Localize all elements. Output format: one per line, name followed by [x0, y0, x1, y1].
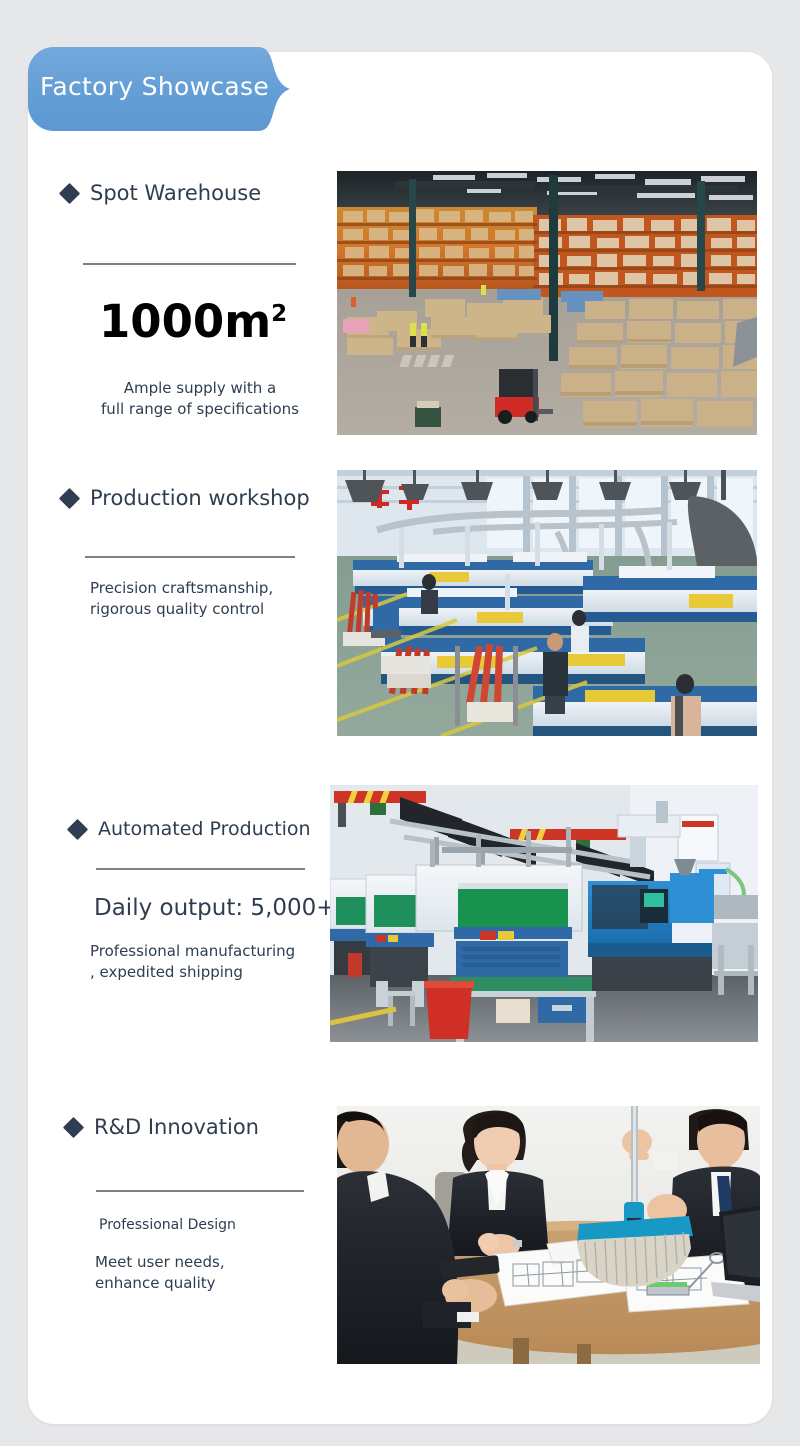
rd-innovation-photo — [337, 1106, 760, 1364]
section-3-divider — [96, 868, 305, 870]
production-workshop-photo — [337, 470, 757, 736]
warehouse-photo — [337, 171, 757, 435]
section-4-description-primary: Professional Design — [99, 1215, 236, 1235]
diamond-icon — [63, 1117, 84, 1138]
section-1-heading: Spot Warehouse — [90, 183, 261, 204]
section-1-heading-row: Spot Warehouse — [62, 183, 261, 204]
automated-production-photo — [330, 785, 758, 1042]
section-2-divider — [85, 556, 295, 558]
page-title: Factory Showcase — [40, 72, 269, 101]
section-2-description: Precision craftsmanship, rigorous qualit… — [90, 578, 320, 621]
section-3-heading: Automated Production — [98, 820, 311, 839]
section-3-stat: Daily output: 5,000+ — [94, 897, 336, 920]
section-1-stat: 1000m2 — [99, 299, 287, 344]
section-1-divider — [83, 263, 296, 265]
section-4-divider — [96, 1190, 304, 1192]
section-4-heading-row: R&D Innovation — [66, 1117, 259, 1138]
section-2-heading-row: Production workshop — [62, 488, 310, 509]
section-1-stat-superscript: 2 — [271, 301, 287, 327]
section-4-description: Meet user needs, enhance quality — [95, 1252, 325, 1295]
section-2-heading: Production workshop — [90, 488, 310, 509]
section-1-description: Ample supply with a full range of specif… — [85, 378, 315, 421]
section-3-heading-row: Automated Production — [70, 820, 311, 839]
diamond-icon — [59, 488, 80, 509]
section-3-description: Professional manufacturing , expedited s… — [90, 941, 330, 984]
section-1-stat-value: 1000m — [99, 295, 271, 348]
diamond-icon — [67, 819, 88, 840]
diamond-icon — [59, 183, 80, 204]
section-4-heading: R&D Innovation — [94, 1117, 259, 1138]
